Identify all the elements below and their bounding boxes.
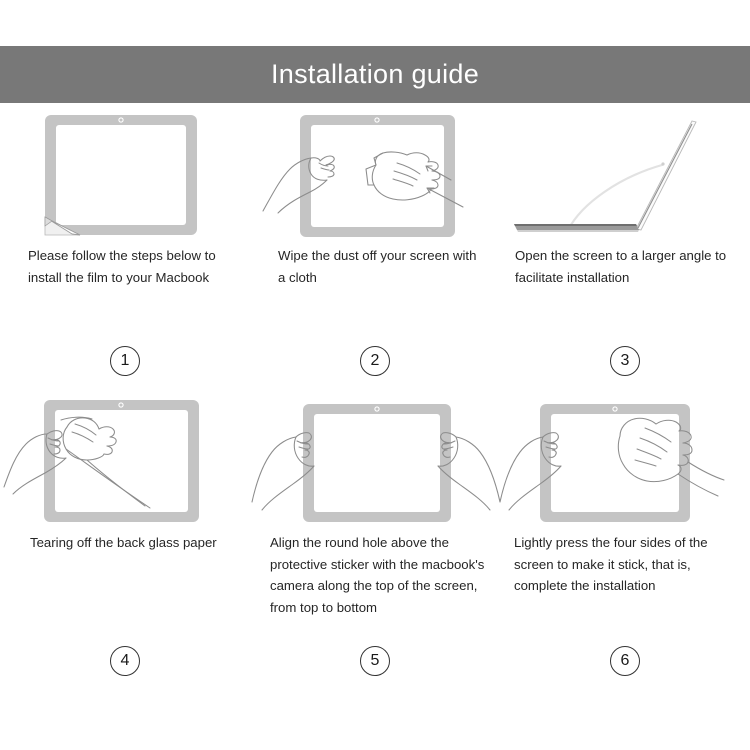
step-panel-3: Open the screen to a larger angle to fac… (500, 103, 750, 390)
step-1-illustration (0, 103, 250, 245)
step-3-caption: Open the screen to a larger angle to fac… (500, 245, 750, 288)
step-1-caption: Please follow the steps below to install… (0, 245, 250, 288)
step-number-badge: 4 (110, 646, 140, 676)
hand-wiping-screen-with-cloth-icon (250, 103, 500, 245)
step-number-badge: 6 (610, 646, 640, 676)
two-hands-aligning-film-on-screen-icon (250, 390, 500, 532)
step-panel-1: Please follow the steps below to install… (0, 103, 250, 390)
step-3-number-wrap: 3 (500, 346, 750, 376)
hands-tearing-backing-paper-icon (0, 390, 250, 532)
step-number-badge: 1 (110, 346, 140, 376)
step-2-number-wrap: 2 (250, 346, 500, 376)
step-3-illustration (500, 103, 750, 245)
step-4-number-wrap: 4 (0, 646, 250, 676)
step-6-illustration (500, 390, 750, 532)
installation-guide-page: Installation guide Please follow the ste… (0, 0, 750, 750)
step-panel-6: Lightly press the four sides of the scre… (500, 390, 750, 690)
step-4-illustration (0, 390, 250, 532)
step-5-number-wrap: 5 (250, 646, 500, 676)
laptop-opening-at-angle-icon (500, 103, 750, 245)
step-5-illustration (250, 390, 500, 532)
step-2-illustration (250, 103, 500, 245)
step-number-badge: 5 (360, 646, 390, 676)
step-5-caption: Align the round hole above the protectiv… (250, 532, 500, 618)
step-6-caption: Lightly press the four sides of the scre… (500, 532, 750, 597)
header-banner: Installation guide (0, 46, 750, 103)
page-title: Installation guide (271, 61, 479, 88)
step-panel-5: Align the round hole above the protectiv… (250, 390, 500, 690)
step-6-number-wrap: 6 (500, 646, 750, 676)
screen-with-peeling-film-corner-icon (0, 103, 250, 245)
steps-grid: Please follow the steps below to install… (0, 103, 750, 750)
step-number-badge: 3 (610, 346, 640, 376)
step-panel-4: Tearing off the back glass paper 4 (0, 390, 250, 690)
step-2-caption: Wipe the dust off your screen with a clo… (250, 245, 500, 288)
step-4-caption: Tearing off the back glass paper (0, 532, 250, 554)
step-number-badge: 2 (360, 346, 390, 376)
step-1-number-wrap: 1 (0, 346, 250, 376)
step-panel-2: Wipe the dust off your screen with a clo… (250, 103, 500, 390)
hand-pressing-screen-edges-icon (500, 390, 750, 532)
